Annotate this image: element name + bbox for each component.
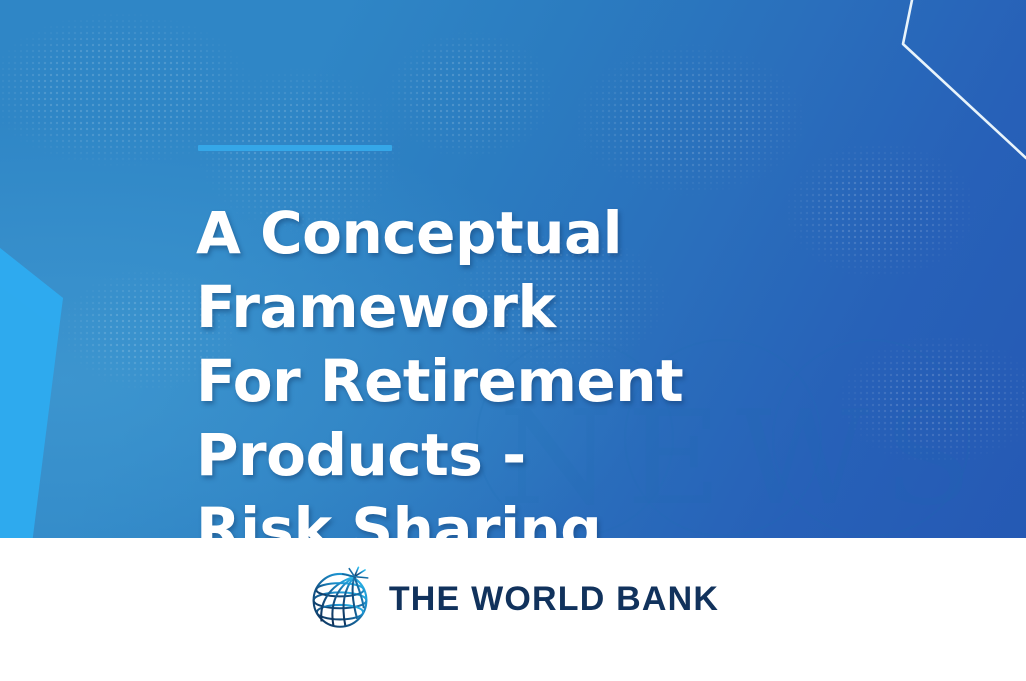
hero-banner: NEWS A Conceptual Framework For Retireme… xyxy=(0,0,1026,545)
brand-lockup: THE WORLD BANK xyxy=(0,566,1026,632)
footer-bar: THE WORLD BANK xyxy=(0,538,1026,681)
slide-canvas: NEWS A Conceptual Framework For Retireme… xyxy=(0,0,1026,681)
world-bank-wordmark: THE WORLD BANK xyxy=(389,580,719,619)
left-accent-shape xyxy=(0,0,120,545)
page-title: A Conceptual Framework For Retirement Pr… xyxy=(196,196,986,545)
corner-chevron-line xyxy=(856,0,1026,180)
world-bank-globe-icon xyxy=(307,566,373,632)
title-accent-rule xyxy=(198,145,392,151)
